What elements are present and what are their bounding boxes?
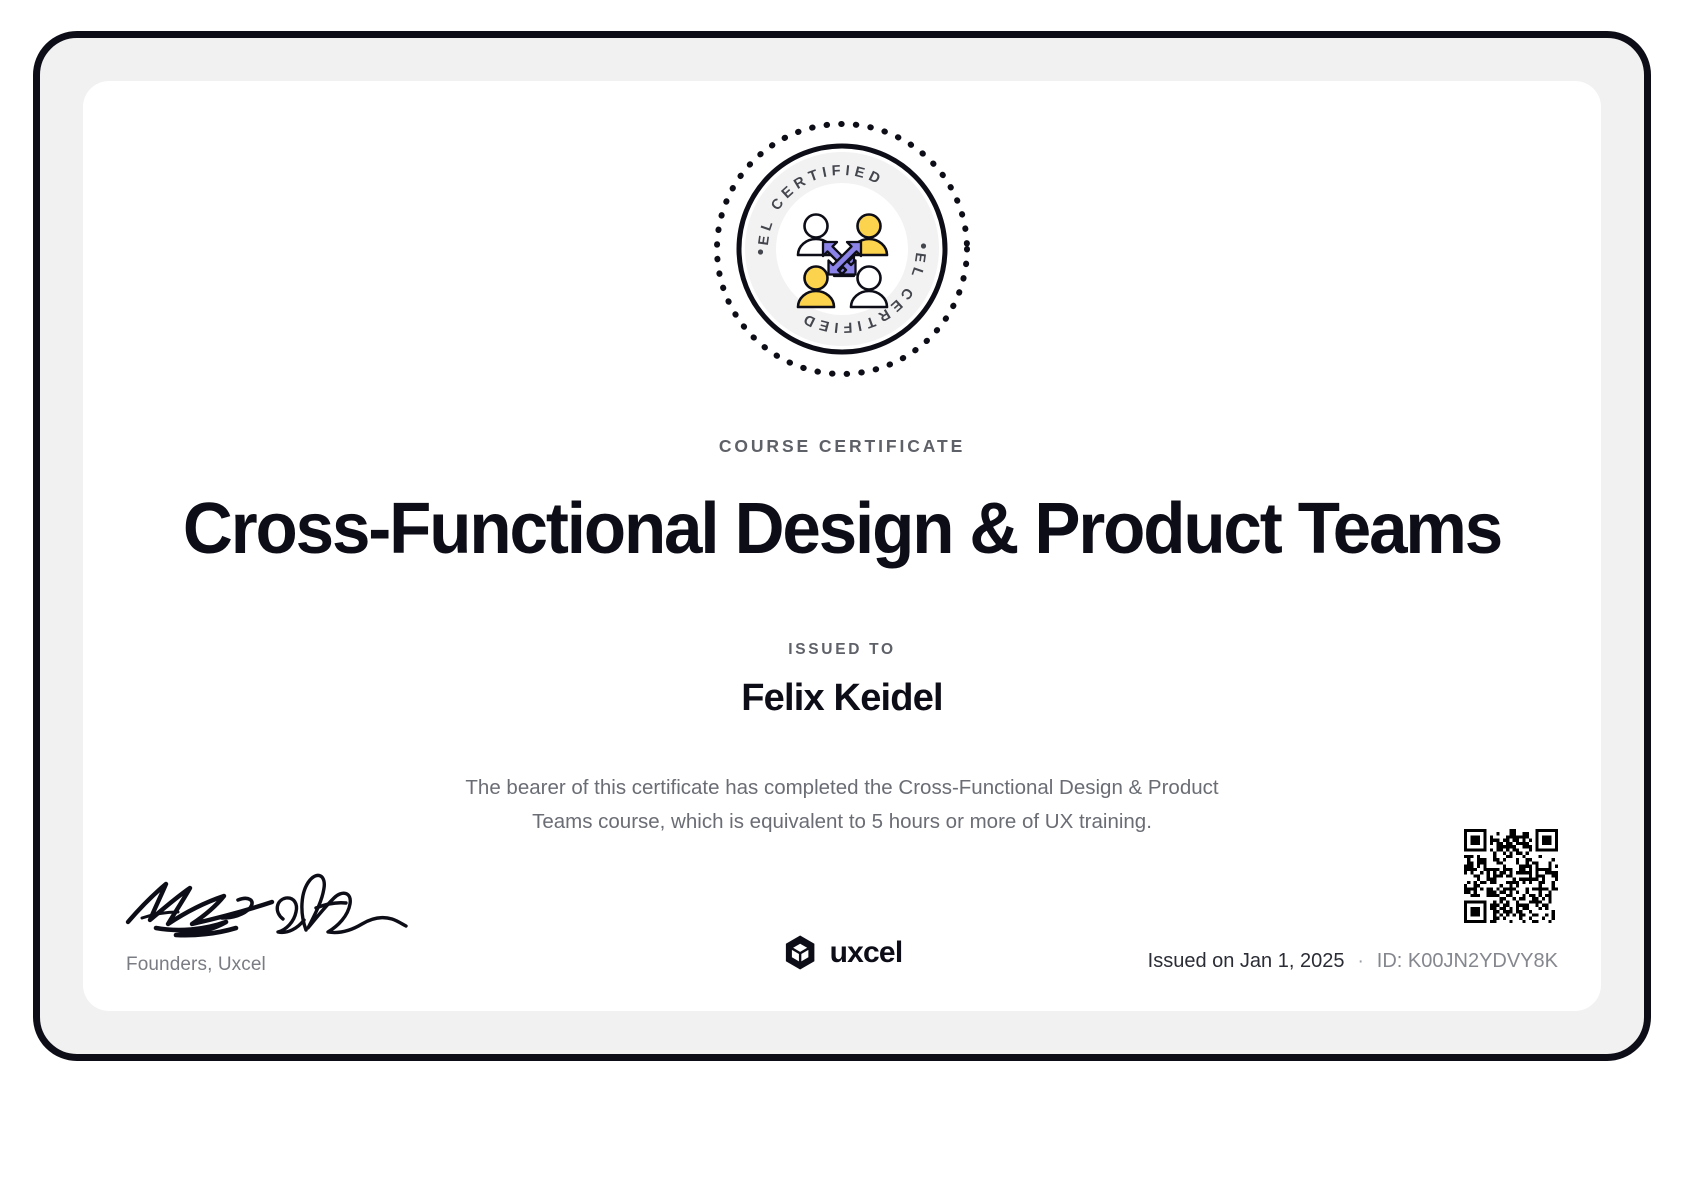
seal-bullet-left	[758, 249, 763, 254]
certificate-description: The bearer of this certificate has compl…	[457, 771, 1227, 839]
recipient-name: Felix Keidel	[83, 677, 1601, 720]
certificate-card: UXCEL CERTIFIED UXCEL CERTIFIED	[83, 81, 1601, 1011]
seal-inner-circle	[776, 183, 908, 315]
issue-separator: ·	[1357, 951, 1363, 973]
signature-block: Founders, Uxcel	[126, 856, 456, 976]
issue-date: Issued on Jan 1, 2025	[1148, 950, 1345, 973]
signature-caption: Founders, Uxcel	[126, 954, 456, 976]
seal-graphic: UXCEL CERTIFIED UXCEL CERTIFIED	[706, 113, 978, 385]
uxcel-brand: uxcel	[782, 934, 903, 971]
issue-info: Issued on Jan 1, 2025 · ID: K00JN2YDVY8K	[1148, 950, 1558, 973]
uxcel-wordmark: uxcel	[830, 936, 903, 970]
qr-canvas	[1464, 829, 1558, 923]
qr-code[interactable]	[1464, 829, 1558, 923]
uxcel-cube-logo-icon	[782, 934, 819, 971]
issued-to-label: ISSUED TO	[83, 641, 1601, 659]
seal-bullet-right	[921, 243, 926, 248]
certificate-frame: UXCEL CERTIFIED UXCEL CERTIFIED	[33, 31, 1651, 1061]
founders-signature-icon	[120, 856, 410, 938]
certification-seal: UXCEL CERTIFIED UXCEL CERTIFIED	[706, 113, 978, 385]
page-title: Cross-Functional Design & Product Teams	[113, 489, 1570, 569]
eyebrow-label: COURSE CERTIFICATE	[83, 436, 1601, 457]
certificate-id: ID: K00JN2YDVY8K	[1377, 950, 1558, 973]
